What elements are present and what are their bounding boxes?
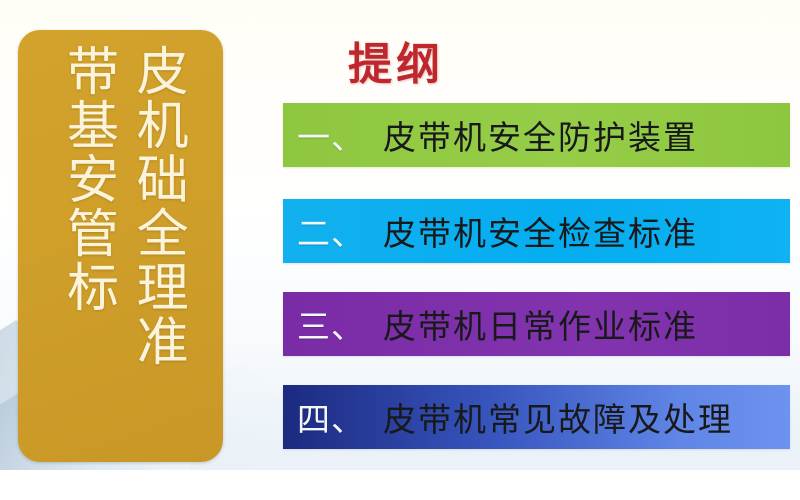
vertical-title-column-right: 皮机础全理准 bbox=[123, 44, 191, 368]
outline-item-4[interactable]: 四、 皮带机常见故障及处理 bbox=[283, 385, 790, 449]
outline-item-4-number: 四、 bbox=[297, 393, 365, 441]
outline-item-1-label: 皮带机安全防护装置 bbox=[383, 111, 698, 159]
page-title: 提纲 bbox=[348, 28, 444, 92]
outline-item-2-label: 皮带机安全检查标准 bbox=[383, 207, 698, 255]
vertical-title-column-left: 带基安管标 bbox=[53, 44, 121, 314]
outline-item-3-number: 三、 bbox=[297, 300, 365, 348]
vertical-title-panel: 皮机础全理准 带基安管标 bbox=[18, 30, 223, 462]
slide-bottom-margin bbox=[0, 470, 800, 500]
outline-item-2[interactable]: 二、 皮带机安全检查标准 bbox=[283, 199, 790, 263]
outline-item-1-number: 一、 bbox=[297, 111, 365, 159]
outline-item-3-label: 皮带机日常作业标准 bbox=[383, 300, 698, 348]
outline-item-1[interactable]: 一、 皮带机安全防护装置 bbox=[283, 103, 790, 167]
outline-item-4-label: 皮带机常见故障及处理 bbox=[383, 393, 733, 441]
outline-item-2-number: 二、 bbox=[297, 207, 365, 255]
outline-item-3[interactable]: 三、 皮带机日常作业标准 bbox=[283, 292, 790, 356]
presentation-slide: 皮机础全理准 带基安管标 提纲 一、 皮带机安全防护装置 二、 皮带机安全检查标… bbox=[0, 0, 800, 470]
